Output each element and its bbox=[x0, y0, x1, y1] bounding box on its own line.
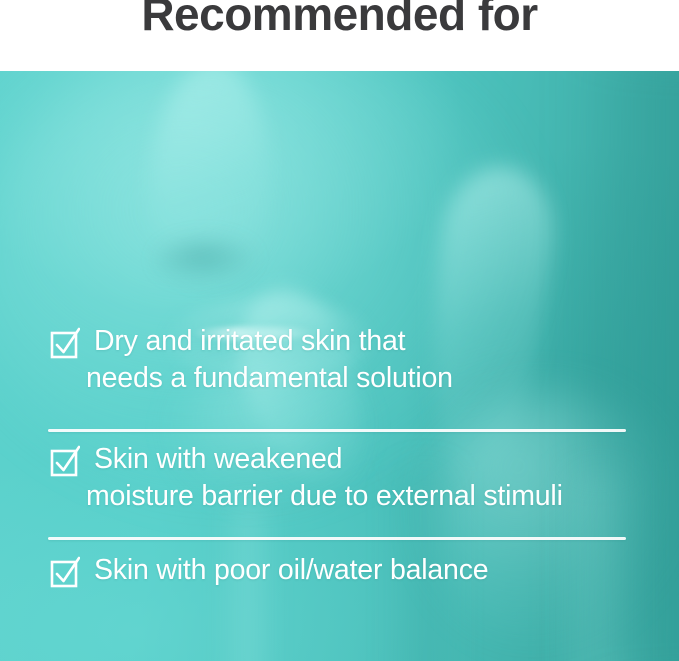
list-item-line2: needs a fundamental solution bbox=[86, 360, 453, 397]
list-item: Skin with poor oil/water balance bbox=[50, 552, 650, 589]
list-item-text: Dry and irritated skin thatneeds a funda… bbox=[94, 323, 453, 397]
page-title: Recommended for bbox=[0, 0, 679, 41]
recommended-for-panel: Dry and irritated skin thatneeds a funda… bbox=[0, 0, 679, 661]
list-item: Skin with weakenedmoisture barrier due t… bbox=[50, 441, 650, 515]
list-item-text: Skin with poor oil/water balance bbox=[94, 552, 488, 589]
checkbox-checked-icon bbox=[50, 326, 80, 360]
list-item-line2: moisture barrier due to external stimuli bbox=[86, 478, 563, 515]
checkbox-checked-icon bbox=[50, 444, 80, 478]
list-divider bbox=[48, 429, 626, 432]
list-item-line1: Skin with poor oil/water balance bbox=[94, 554, 488, 586]
list-item-line1: Skin with weakened bbox=[94, 443, 342, 475]
list-divider bbox=[48, 537, 626, 540]
recommended-checklist: Dry and irritated skin thatneeds a funda… bbox=[0, 71, 679, 661]
list-item: Dry and irritated skin thatneeds a funda… bbox=[50, 323, 650, 397]
list-item-line1: Dry and irritated skin that bbox=[94, 325, 405, 357]
list-item-text: Skin with weakenedmoisture barrier due t… bbox=[94, 441, 563, 515]
header-band: Recommended for bbox=[0, 0, 679, 71]
checkbox-checked-icon bbox=[50, 555, 80, 589]
